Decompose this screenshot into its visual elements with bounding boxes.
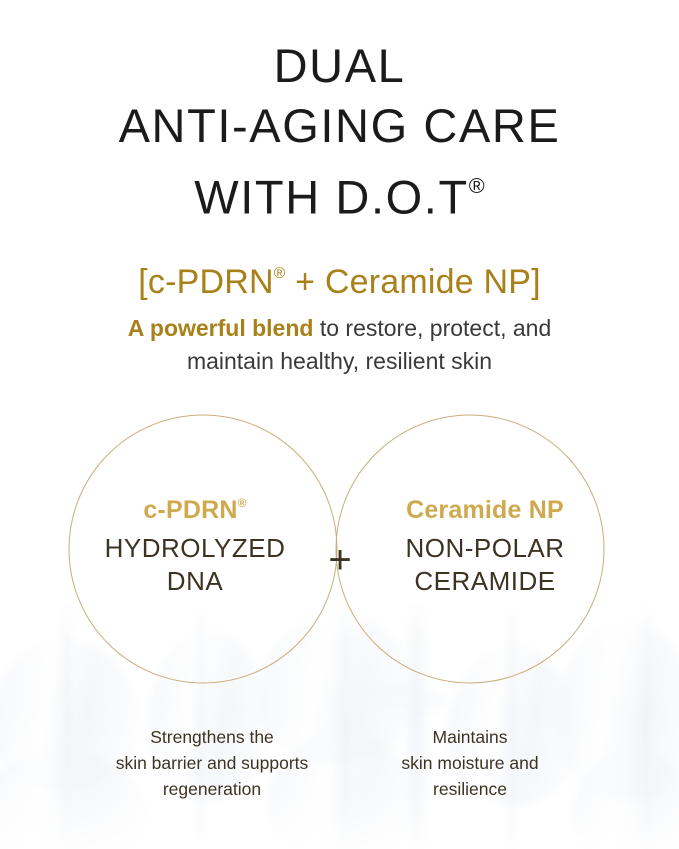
venn-left-title: HYDROLYZED DNA bbox=[70, 532, 320, 598]
tagline-accent: A powerful blend bbox=[128, 315, 314, 341]
page-title: DUAL ANTI-AGING CARE WITH D.O.T® bbox=[0, 36, 679, 228]
venn-right-title: NON-POLAR CERAMIDE bbox=[360, 532, 610, 598]
venn-right-caption-line-2: skin moisture and bbox=[370, 750, 570, 776]
registered-trademark-icon: ® bbox=[274, 265, 286, 282]
venn-right-caption-line-3: resilience bbox=[370, 776, 570, 802]
venn-right-title-line-2: CERAMIDE bbox=[360, 565, 610, 598]
bracket-open-text: [c-PDRN bbox=[138, 263, 274, 301]
venn-right-caption: Maintains skin moisture and resilience bbox=[370, 724, 570, 802]
venn-right-labels: Ceramide NP NON-POLAR CERAMIDE bbox=[360, 496, 610, 598]
venn-right-subtitle: Ceramide NP bbox=[360, 496, 610, 525]
venn-left-caption-line-1: Strengthens the bbox=[92, 724, 332, 750]
tagline-rest: to restore, protect, and bbox=[313, 315, 551, 341]
registered-trademark-icon: ® bbox=[238, 496, 247, 510]
tagline-line-1: A powerful blend to restore, protect, an… bbox=[0, 312, 679, 345]
registered-trademark-icon: ® bbox=[469, 173, 485, 198]
product-ingredient-poster: DUAL ANTI-AGING CARE WITH D.O.T® [c-PDRN… bbox=[0, 0, 679, 849]
venn-left-caption: Strengthens the skin barrier and support… bbox=[92, 724, 332, 802]
headline-line-1: DUAL bbox=[0, 36, 679, 96]
venn-plus-operator: + bbox=[316, 536, 364, 584]
headline-line-3-text: WITH D.O.T bbox=[194, 171, 468, 224]
tagline: A powerful blend to restore, protect, an… bbox=[0, 312, 679, 378]
venn-right-title-line-1: NON-POLAR bbox=[360, 532, 610, 565]
bracket-close-text: + Ceramide NP] bbox=[285, 263, 540, 301]
headline-line-3: WITH D.O.T® bbox=[0, 156, 679, 228]
venn-right-caption-line-1: Maintains bbox=[370, 724, 570, 750]
venn-left-subtitle: c-PDRN® bbox=[70, 496, 320, 525]
ingredient-bracket-line: [c-PDRN® + Ceramide NP] bbox=[0, 252, 679, 304]
headline-line-2: ANTI-AGING CARE bbox=[0, 96, 679, 156]
venn-left-title-line-2: DNA bbox=[70, 565, 320, 598]
venn-left-labels: c-PDRN® HYDROLYZED DNA bbox=[70, 496, 320, 598]
venn-left-title-line-1: HYDROLYZED bbox=[70, 532, 320, 565]
tagline-line-2: maintain healthy, resilient skin bbox=[0, 345, 679, 378]
venn-left-caption-line-3: regeneration bbox=[92, 776, 332, 802]
venn-left-subtitle-text: c-PDRN bbox=[143, 496, 237, 524]
venn-left-caption-line-2: skin barrier and supports bbox=[92, 750, 332, 776]
